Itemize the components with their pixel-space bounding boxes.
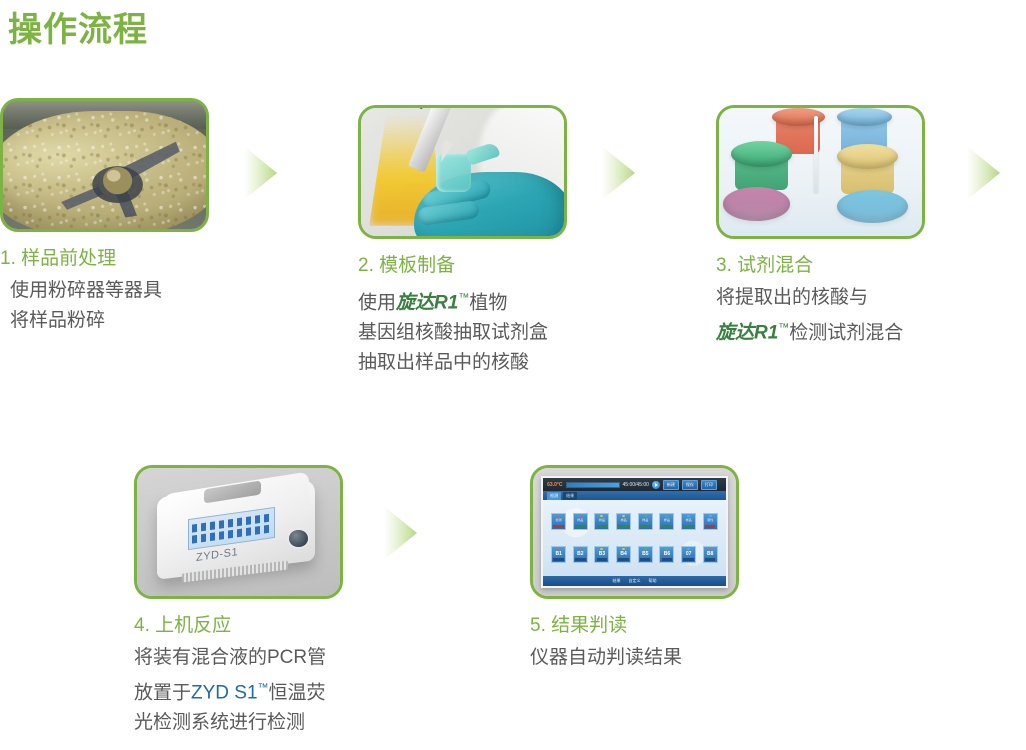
zyd-s1-instrument-photo: ZYD-S1 <box>137 468 340 596</box>
step-card-3: 3. 试剂混合 将提取出的核酸与 旋达R1™检测试剂混合 <box>716 105 925 348</box>
play-button[interactable] <box>652 481 660 489</box>
arrow-step1-to-step2 <box>245 145 277 201</box>
well-b8[interactable]: B8 <box>703 546 718 563</box>
grinder-blade-icon <box>3 101 206 231</box>
step-5-body: 仪器自动判读结果 <box>530 643 739 673</box>
temperature-readout: 63.0°C <box>547 482 562 488</box>
brand-zyd-s1: ZYD S1 <box>191 682 258 703</box>
step-1-image <box>0 98 209 232</box>
grinder-with-powdered-sample-photo <box>3 101 206 229</box>
bottom-button-custom[interactable]: 自定义 <box>629 578 641 584</box>
well-a2[interactable]: 样品 <box>573 513 588 530</box>
step-1-body: 使用粉碎器等器具 将样品粉碎 <box>0 276 209 336</box>
analysis-software-screen-photo: 63.0°C 45:00/45:00 新建 保存 打印 检测 结果 检测 样品 <box>533 468 736 596</box>
step-1-title: 1. 样品前处理 <box>0 246 209 272</box>
page-title: 操作流程 <box>8 8 148 52</box>
tab-results[interactable]: 结果 <box>563 492 577 500</box>
well-b2[interactable]: B2 <box>573 546 588 563</box>
well-b4[interactable]: B4 <box>616 546 631 563</box>
step-4-body: 将装有混合液的PCR管 放置于ZYD S1™恒温荧 光检测系统进行检测 <box>134 643 343 738</box>
well-b3[interactable]: B3 <box>594 546 609 563</box>
step-2-title: 2. 模板制备 <box>358 253 567 279</box>
colored-microtubes-rack-photo <box>719 108 922 236</box>
brand-xuanda-r1: 旋达R1 <box>396 292 458 313</box>
step-card-2: 2. 模板制备 使用旋达R1™植物 基因组核酸抽取试剂盒 抽取出样品中的核酸 <box>358 105 567 378</box>
step-3-body: 将提取出的核酸与 旋达R1™检测试剂混合 <box>716 283 925 348</box>
brand-xuanda-r1: 旋达R1 <box>716 322 778 343</box>
well-row-1: 检测 样品 样品 样品 样品 样品 样品 阴性 <box>551 513 718 530</box>
pipette-tip-icon <box>814 116 818 193</box>
step-4-line-3: 光检测系统进行检测 <box>134 708 343 738</box>
new-button[interactable]: 新建 <box>663 480 679 490</box>
run-progress-bar <box>566 482 620 488</box>
step-card-1: 1. 样品前处理 使用粉碎器等器具 将样品粉碎 <box>0 98 209 336</box>
well-a1[interactable]: 检测 <box>551 513 566 530</box>
well-a3[interactable]: 样品 <box>594 513 609 530</box>
step-2-line-3: 抽取出样品中的核酸 <box>358 348 567 378</box>
step-3-image <box>716 105 925 239</box>
step-card-4: ZYD-S1 4. 上机反应 将装有混合液的PCR管 放置于ZYD S1™恒温荧… <box>134 465 343 738</box>
well-a4[interactable]: 样品 <box>616 513 631 530</box>
step-4-line-2: 放置于ZYD S1™恒温荧 <box>134 673 343 708</box>
trademark-symbol: ™ <box>778 322 789 334</box>
step-3-line-2: 旋达R1™检测试剂混合 <box>716 313 925 348</box>
trademark-symbol: ™ <box>458 292 469 304</box>
timer-readout: 45:00/45:00 <box>623 482 649 488</box>
step-2-line-1: 使用旋达R1™植物 <box>358 283 567 318</box>
bottom-button-help[interactable]: 帮助 <box>649 578 657 584</box>
well-grid: 检测 样品 样品 样品 样品 样品 样品 阴性 B1 B2 B3 B4 <box>543 500 726 576</box>
tab-detection[interactable]: 检测 <box>547 492 561 500</box>
step-card-5: 63.0°C 45:00/45:00 新建 保存 打印 检测 结果 检测 样品 <box>530 465 739 673</box>
step-5-image: 63.0°C 45:00/45:00 新建 保存 打印 检测 结果 检测 样品 <box>530 465 739 599</box>
step-1-line-2: 将样品粉碎 <box>10 306 209 336</box>
well-a6[interactable]: 样品 <box>659 513 674 530</box>
step-4-title: 4. 上机反应 <box>134 613 343 639</box>
well-b6[interactable]: B6 <box>659 546 674 563</box>
software-bottombar: 结果 自定义 帮助 <box>543 576 726 586</box>
pipetting-into-microtube-photo <box>361 108 564 236</box>
step-5-line-1: 仪器自动判读结果 <box>530 643 739 673</box>
software-tabbar: 检测 结果 <box>543 491 726 500</box>
arrow-step4-to-step5 <box>385 505 417 561</box>
step-3-title: 3. 试剂混合 <box>716 253 925 279</box>
software-toolbar: 63.0°C 45:00/45:00 新建 保存 打印 <box>543 478 726 491</box>
save-button[interactable]: 保存 <box>682 480 698 490</box>
well-b1[interactable]: B1 <box>551 546 566 563</box>
well-b5[interactable]: B5 <box>638 546 653 563</box>
trademark-symbol: ™ <box>258 682 269 694</box>
step-1-line-1: 使用粉碎器等器具 <box>10 276 209 306</box>
power-knob-icon <box>287 528 309 549</box>
step-2-image <box>358 105 567 239</box>
well-row-2: B1 B2 B3 B4 B5 B6 07 B8 <box>551 546 718 563</box>
print-button[interactable]: 打印 <box>701 480 717 490</box>
step-3-line-1: 将提取出的核酸与 <box>716 283 925 313</box>
step-4-line-1: 将装有混合液的PCR管 <box>134 643 343 673</box>
well-a5[interactable]: 样品 <box>638 513 653 530</box>
step-5-title: 5. 结果判读 <box>530 613 739 639</box>
step-2-line-2: 基因组核酸抽取试剂盒 <box>358 318 567 348</box>
well-b7[interactable]: 07 <box>681 546 696 563</box>
step-4-image: ZYD-S1 <box>134 465 343 599</box>
step-2-body: 使用旋达R1™植物 基因组核酸抽取试剂盒 抽取出样品中的核酸 <box>358 283 567 378</box>
arrow-step2-to-step3 <box>603 145 635 201</box>
well-a8[interactable]: 阴性 <box>703 513 718 530</box>
well-a7[interactable]: 样品 <box>681 513 696 530</box>
bottom-button-results[interactable]: 结果 <box>613 578 621 584</box>
arrow-row1-overflow <box>968 145 1000 201</box>
